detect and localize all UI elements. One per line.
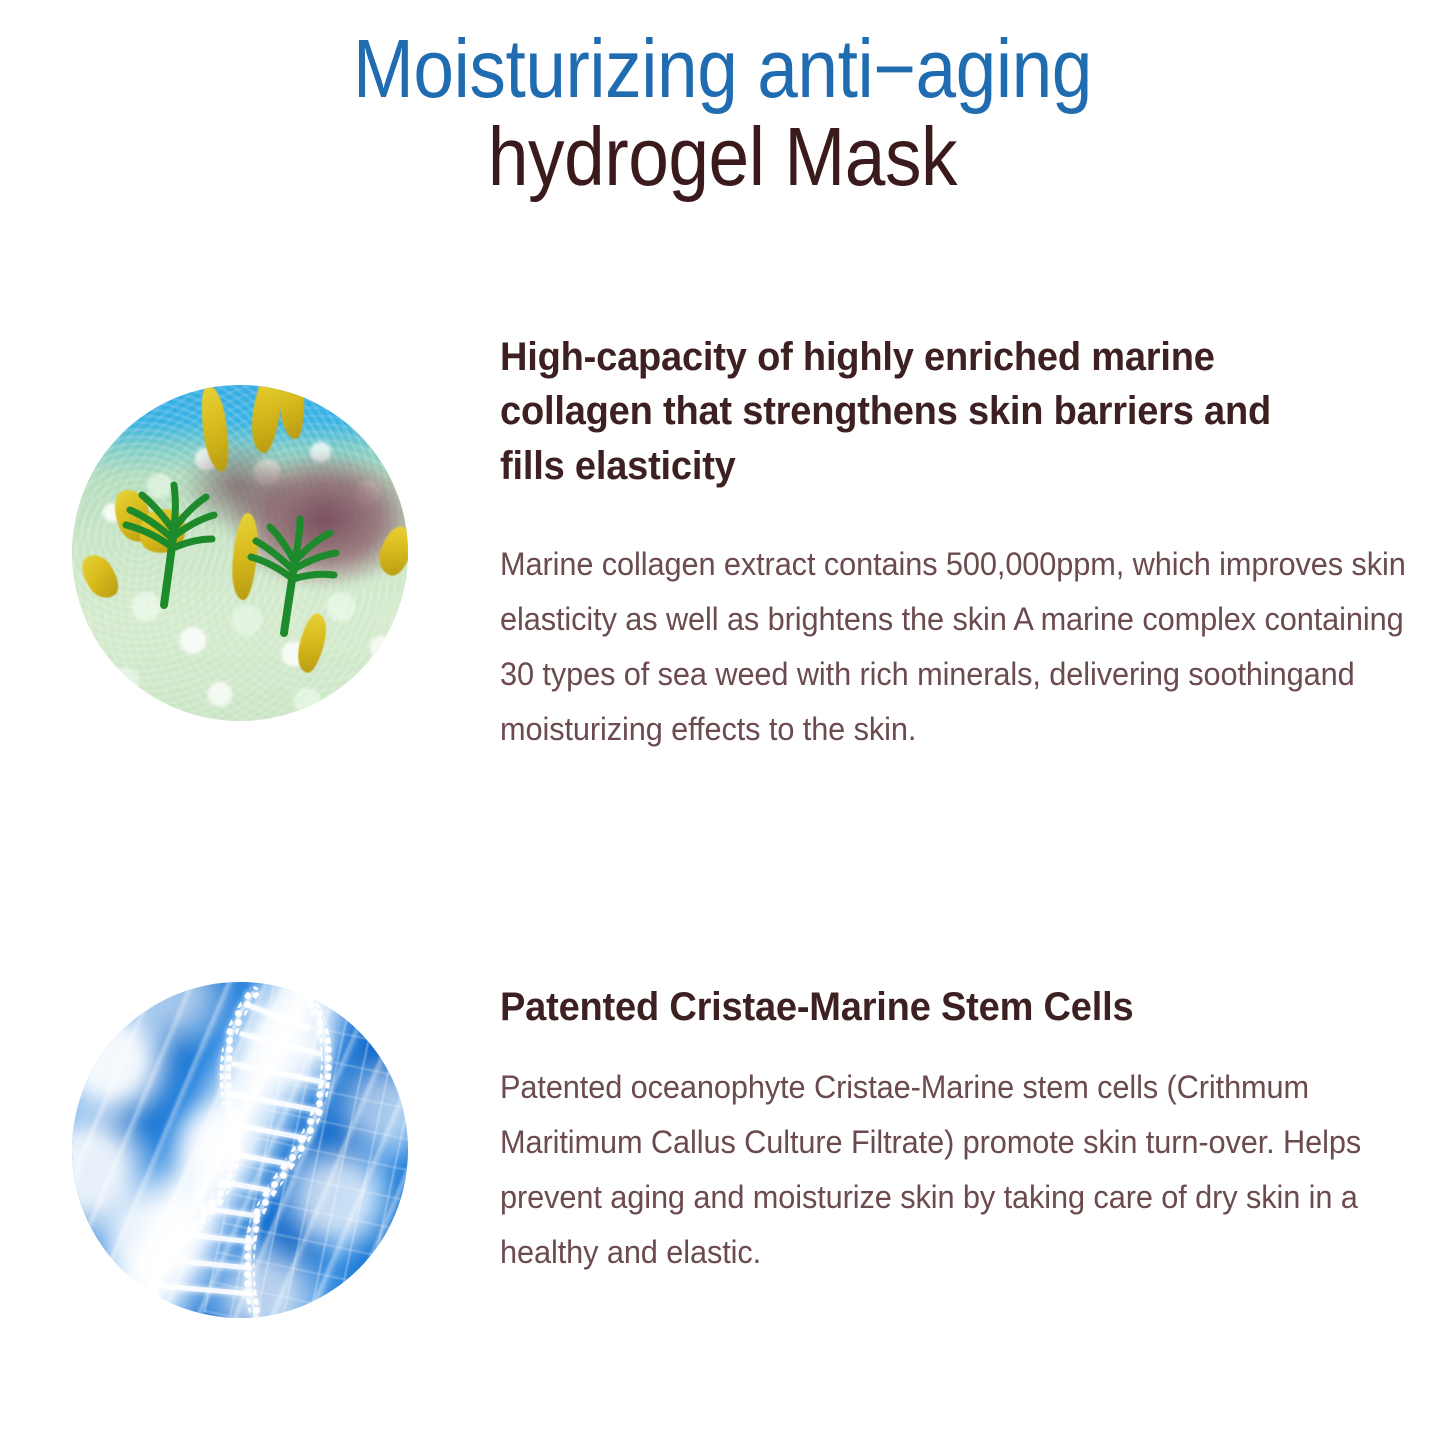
feature-body-text: Marine collagen extract contains 500,000… bbox=[500, 537, 1422, 757]
page-title-line-1: Moisturizing anti−aging bbox=[87, 26, 1359, 112]
feature-text-column: High-capacity of highly enriched marine … bbox=[500, 330, 1430, 757]
feature-body-text: Patented oceanophyte Cristae-Marine stem… bbox=[500, 1060, 1398, 1280]
dna-double-helix-photo bbox=[72, 982, 408, 1318]
feature-text-column: Patented Cristae-Marine Stem Cells Paten… bbox=[500, 950, 1430, 1281]
product-detail-page: Moisturizing anti−aging hydrogel Mask bbox=[0, 0, 1445, 1445]
dna-helix-strands bbox=[72, 982, 408, 1318]
feature-heading: Patented Cristae-Marine Stem Cells bbox=[500, 980, 1384, 1034]
page-title-line-2: hydrogel Mask bbox=[87, 114, 1359, 200]
green-seaweed-plants bbox=[72, 385, 408, 721]
feature-heading: High-capacity of highly enriched marine … bbox=[500, 330, 1336, 493]
page-title: Moisturizing anti−aging hydrogel Mask bbox=[0, 26, 1445, 201]
underwater-seaweed-photo bbox=[72, 385, 408, 721]
